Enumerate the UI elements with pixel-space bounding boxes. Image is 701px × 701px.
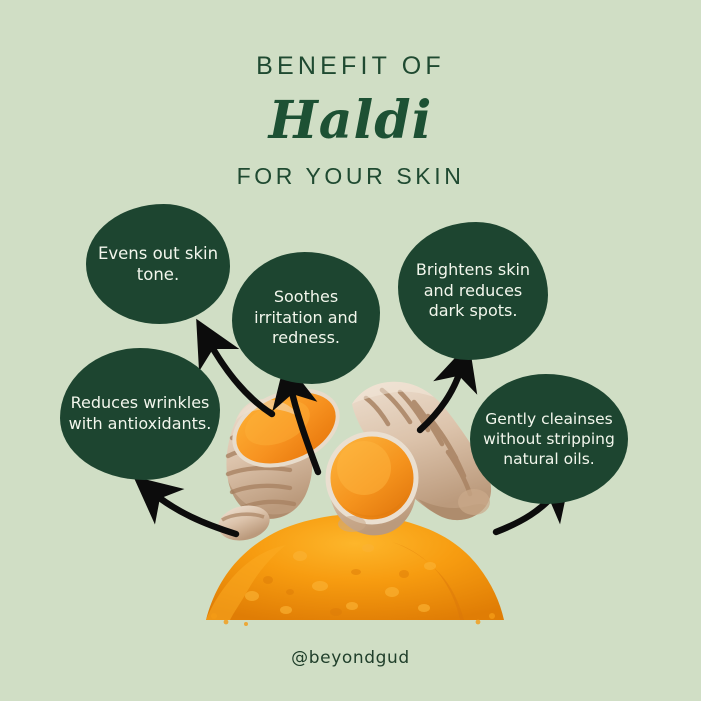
benefit-text-evens: Evens out skin tone.: [86, 243, 230, 286]
social-handle: @beyondgud: [0, 648, 701, 668]
header-kicker: BENEFIT OF: [0, 52, 701, 81]
header: BENEFIT OF Haldi FOR YOUR SKIN: [0, 0, 701, 190]
benefit-blob-brightens: Brightens skin and reduces dark spots.: [398, 222, 548, 360]
page-title: Haldi: [0, 90, 701, 151]
header-subkicker: FOR YOUR SKIN: [0, 163, 701, 190]
benefit-text-gently: Gently cleainses without stripping natur…: [470, 409, 628, 469]
arrow-to-reduces: [152, 492, 236, 534]
benefit-text-reduces: Reduces wrinkles with antioxidants.: [60, 393, 220, 435]
benefit-text-soothes: Soothes irritation and redness.: [232, 287, 380, 349]
turmeric-rhizome-front-cut: [328, 434, 416, 535]
benefit-blob-evens: Evens out skin tone.: [86, 204, 230, 324]
benefit-text-brightens: Brightens skin and reduces dark spots.: [398, 260, 548, 322]
benefit-blob-gently: Gently cleainses without stripping natur…: [470, 374, 628, 504]
benefit-blob-reduces: Reduces wrinkles with antioxidants.: [60, 348, 220, 480]
turmeric-illustration: [206, 376, 504, 626]
benefit-blob-soothes: Soothes irritation and redness.: [232, 252, 380, 384]
